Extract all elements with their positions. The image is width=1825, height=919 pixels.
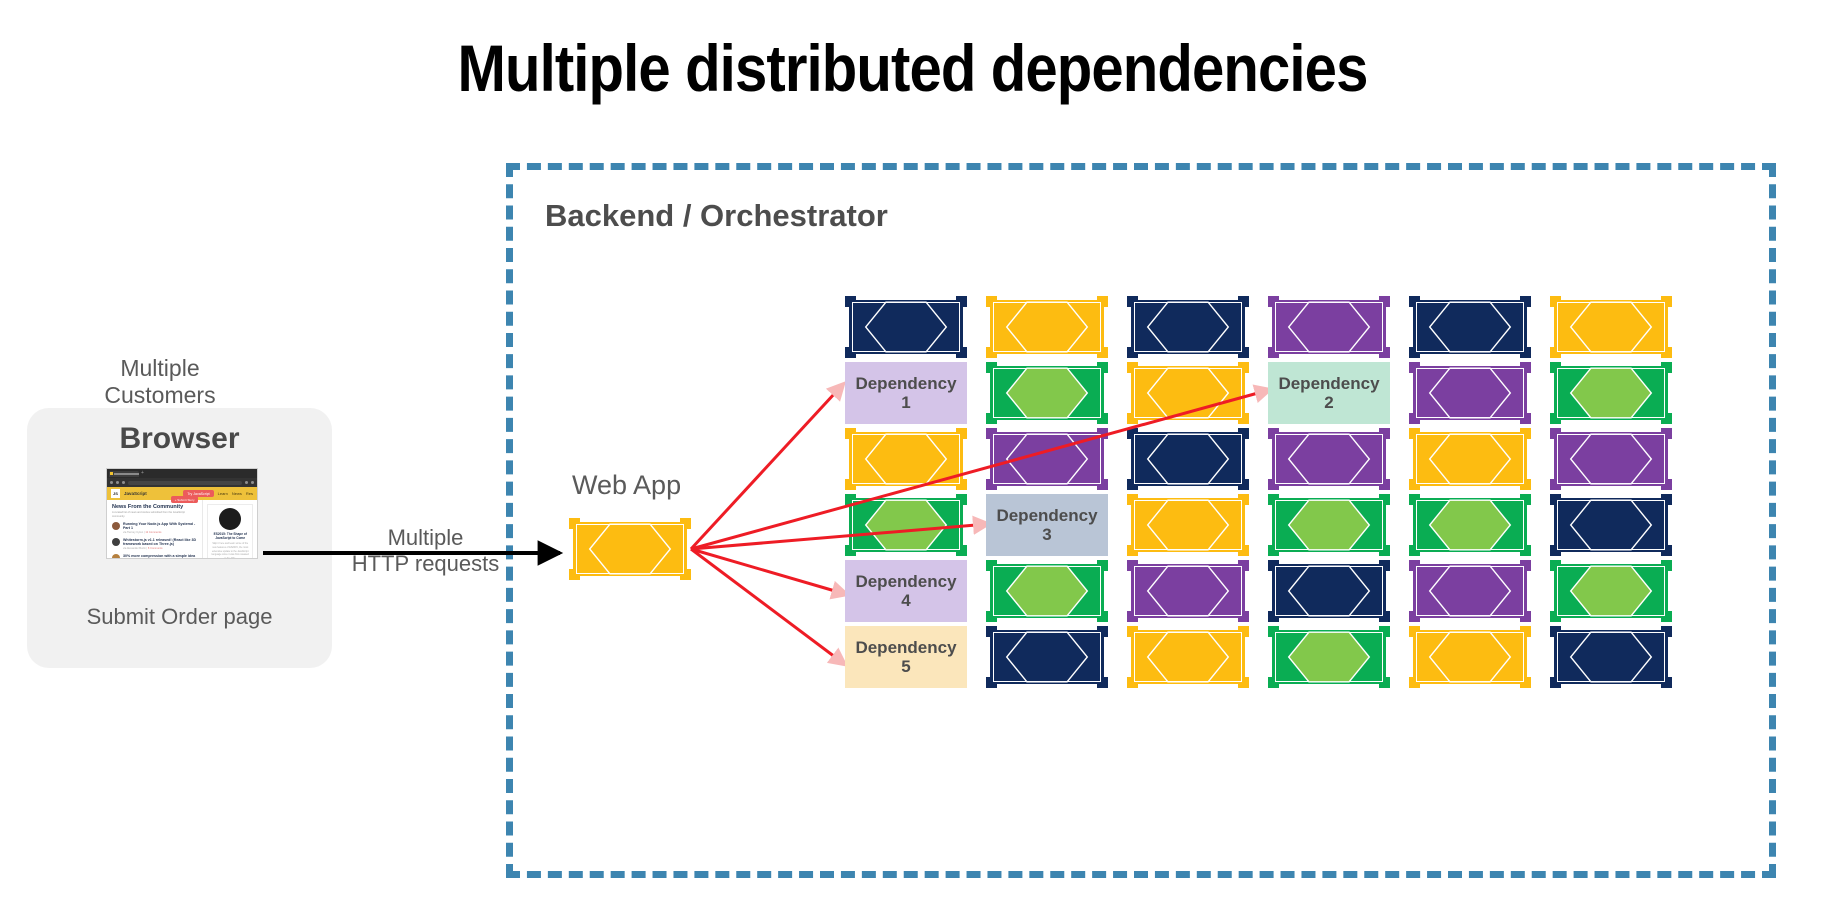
service-node[interactable] — [1127, 428, 1249, 490]
web-app-label: Web App — [572, 470, 681, 501]
hexagon-icon — [845, 296, 967, 358]
service-grid: Dependency1Dependency2Dependency3Depende… — [845, 296, 1660, 676]
node-corner-bracket — [1238, 347, 1249, 358]
dependency-label-3[interactable]: Dependency3 — [986, 494, 1108, 556]
node-corner-bracket — [845, 494, 856, 505]
node-corner-bracket — [1097, 296, 1108, 307]
node-corner-bracket — [845, 479, 856, 490]
node-corner-bracket — [1409, 611, 1420, 622]
node-corner-bracket — [1379, 677, 1390, 688]
dependency-label-line-1: Dependency — [855, 638, 956, 657]
menu-icon — [251, 481, 254, 484]
course-title: ES2015: The Shape of JavaScript to Come — [211, 532, 249, 540]
node-corner-bracket — [1550, 479, 1561, 490]
node-corner-bracket — [956, 479, 967, 490]
node-corner-bracket — [956, 494, 967, 505]
node-corner-bracket — [1550, 611, 1561, 622]
node-corner-bracket — [1520, 362, 1531, 373]
hexagon-icon — [1268, 626, 1390, 688]
node-corner-bracket — [1520, 677, 1531, 688]
node-corner-bracket — [1520, 626, 1531, 637]
service-node[interactable] — [1127, 494, 1249, 556]
node-corner-bracket — [1409, 347, 1420, 358]
dependency-label-line-1: Dependency — [996, 506, 1097, 525]
node-corner-bracket — [1238, 479, 1249, 490]
hexagon-icon — [1409, 428, 1531, 490]
site-brand: JavaScript — [124, 491, 147, 496]
customers-line-2: Customers — [60, 382, 260, 409]
node-corner-bracket — [845, 428, 856, 439]
avatar — [112, 554, 120, 559]
node-corner-bracket — [1127, 479, 1138, 490]
browser-title: Browser — [27, 422, 332, 456]
dependency-label-line-1: Dependency — [855, 572, 956, 591]
node-corner-bracket — [986, 611, 997, 622]
node-corner-bracket — [1268, 428, 1279, 439]
hexagon-icon — [1127, 296, 1249, 358]
service-node[interactable] — [1268, 428, 1390, 490]
article-title: 30% more compression with a simple idea … — [123, 554, 198, 559]
node-corner-bracket — [1268, 494, 1279, 505]
service-node[interactable] — [1268, 494, 1390, 556]
node-corner-bracket — [1379, 428, 1390, 439]
service-node[interactable] — [1550, 428, 1672, 490]
node-corner-bracket — [1238, 413, 1249, 424]
node-corner-bracket — [1661, 296, 1672, 307]
hexagon-icon — [986, 362, 1108, 424]
dependency-label-5[interactable]: Dependency5 — [845, 626, 967, 688]
node-corner-bracket — [1127, 494, 1138, 505]
news-subheadline: A curated list of news and stories submi… — [112, 511, 198, 518]
star-icon — [245, 481, 248, 484]
hexagon-icon — [1550, 362, 1672, 424]
node-corner-bracket — [1379, 611, 1390, 622]
submit-story-button: + Submit Story — [171, 496, 199, 503]
nav-link-news: News — [232, 491, 242, 496]
service-node[interactable] — [1127, 296, 1249, 358]
node-corner-bracket — [1379, 479, 1390, 490]
node-corner-bracket — [1379, 545, 1390, 556]
node-corner-bracket — [1550, 428, 1561, 439]
course-card: ES2015: The Shape of JavaScript to Come … — [207, 504, 253, 559]
node-corner-bracket — [1268, 347, 1279, 358]
javascript-logo: JS — [111, 489, 120, 498]
node-corner-bracket — [1379, 494, 1390, 505]
node-corner-bracket — [1379, 626, 1390, 637]
node-corner-bracket — [1520, 560, 1531, 571]
node-corner-bracket — [1238, 296, 1249, 307]
node-corner-bracket — [1409, 494, 1420, 505]
reload-icon — [122, 481, 125, 484]
browser-tabstrip: + — [107, 469, 257, 478]
hexagon-icon — [986, 428, 1108, 490]
node-corner-bracket — [1520, 545, 1531, 556]
node-corner-bracket — [1379, 560, 1390, 571]
node-corner-bracket — [986, 626, 997, 637]
service-node[interactable] — [986, 626, 1108, 688]
node-corner-bracket — [1661, 545, 1672, 556]
node-corner-bracket — [1097, 413, 1108, 424]
service-node[interactable] — [1268, 626, 1390, 688]
node-corner-bracket — [1097, 560, 1108, 571]
node-corner-bracket — [1268, 296, 1279, 307]
service-node[interactable] — [1268, 560, 1390, 622]
node-corner-bracket — [986, 677, 997, 688]
submit-order-page-label: Submit Order page — [27, 604, 332, 630]
article-title: Running Your Node.js App With Systemd - … — [123, 522, 198, 531]
page-title: Multiple distributed dependencies — [110, 30, 1716, 106]
hexagon-icon — [1127, 362, 1249, 424]
node-corner-bracket — [1127, 611, 1138, 622]
service-node[interactable] — [845, 428, 967, 490]
node-corner-bracket — [1409, 479, 1420, 490]
node-corner-bracket — [1238, 560, 1249, 571]
avatar — [112, 522, 120, 530]
node-corner-bracket — [1127, 677, 1138, 688]
node-corner-bracket — [1409, 413, 1420, 424]
hexagon-icon — [569, 518, 691, 580]
service-node[interactable] — [986, 560, 1108, 622]
service-node[interactable] — [1127, 560, 1249, 622]
node-corner-bracket — [986, 296, 997, 307]
node-corner-bracket — [1268, 545, 1279, 556]
hexagon-icon — [986, 626, 1108, 688]
dependency-label-4[interactable]: Dependency4 — [845, 560, 967, 622]
service-node[interactable] — [1127, 362, 1249, 424]
node-corner-bracket — [1097, 479, 1108, 490]
hexagon-icon — [1268, 494, 1390, 556]
browser-tab — [109, 471, 139, 477]
node-corner-bracket — [1238, 362, 1249, 373]
news-sidebar: ES2015: The Shape of JavaScript to Come … — [202, 500, 257, 559]
hexagon-icon — [1409, 494, 1531, 556]
list-item: Running Your Node.js App With Systemd - … — [112, 522, 198, 534]
node-corner-bracket — [1097, 428, 1108, 439]
service-node[interactable] — [1409, 494, 1531, 556]
node-corner-bracket — [1661, 626, 1672, 637]
dependency-label-line-2: 1 — [901, 393, 910, 412]
dependency-label-line-2: 4 — [901, 591, 910, 610]
node-corner-bracket — [1409, 362, 1420, 373]
node-corner-bracket — [1127, 413, 1138, 424]
node-corner-bracket — [1238, 611, 1249, 622]
node-corner-bracket — [1661, 362, 1672, 373]
hexagon-icon — [1409, 626, 1531, 688]
node-corner-bracket — [1127, 296, 1138, 307]
address-field — [128, 481, 242, 485]
node-corner-bracket — [845, 296, 856, 307]
node-corner-bracket — [956, 296, 967, 307]
node-corner-bracket — [845, 347, 856, 358]
hexagon-icon — [1268, 560, 1390, 622]
node-corner-bracket — [1520, 428, 1531, 439]
node-corner-bracket — [1550, 494, 1561, 505]
node-corner-bracket — [1409, 626, 1420, 637]
node-corner-bracket — [1550, 296, 1561, 307]
news-headline: News From the Community — [112, 504, 198, 510]
node-corner-bracket — [1409, 545, 1420, 556]
node-corner-bracket — [1661, 428, 1672, 439]
node-corner-bracket — [1661, 494, 1672, 505]
node-corner-bracket — [1661, 479, 1672, 490]
service-node[interactable] — [1550, 494, 1672, 556]
service-node[interactable] — [1268, 296, 1390, 358]
hexagon-icon — [1550, 626, 1672, 688]
hexagon-icon — [845, 428, 967, 490]
http-requests-label: Multiple HTTP requests — [338, 525, 513, 577]
hexagon-icon — [1550, 560, 1672, 622]
web-app-node[interactable] — [569, 518, 691, 580]
node-corner-bracket — [1268, 560, 1279, 571]
node-corner-bracket — [1520, 494, 1531, 505]
dependency-label-line-1: Dependency — [1278, 374, 1379, 393]
list-item: Whitestorm.js v1.1 released! (React like… — [112, 538, 198, 550]
node-corner-bracket — [986, 479, 997, 490]
service-node[interactable] — [1409, 296, 1531, 358]
article-meta: via Tierney Cyren | 12 Comments — [123, 531, 198, 534]
customers-line-1: Multiple — [60, 355, 260, 382]
hexagon-icon — [1268, 296, 1390, 358]
new-tab-icon: + — [141, 471, 144, 476]
avatar — [112, 538, 120, 546]
node-corner-bracket — [986, 413, 997, 424]
node-corner-bracket — [1127, 626, 1138, 637]
dependency-label-line-1: Dependency — [855, 374, 956, 393]
hexagon-icon — [845, 494, 967, 556]
hexagon-icon — [1409, 296, 1531, 358]
service-node[interactable] — [986, 428, 1108, 490]
service-node[interactable] — [1409, 428, 1531, 490]
node-corner-bracket — [1097, 611, 1108, 622]
node-corner-bracket — [1409, 296, 1420, 307]
browser-urlbar — [107, 478, 257, 487]
site-body: + Submit Story News From the Community A… — [107, 500, 257, 559]
node-corner-bracket — [1661, 413, 1672, 424]
node-corner-bracket — [986, 347, 997, 358]
node-corner-bracket — [1661, 560, 1672, 571]
node-corner-bracket — [1550, 677, 1561, 688]
service-node[interactable] — [1409, 362, 1531, 424]
node-corner-bracket — [680, 518, 691, 529]
service-node[interactable] — [1550, 560, 1672, 622]
http-line-2: HTTP requests — [338, 551, 513, 577]
backend-orchestrator-title: Backend / Orchestrator — [545, 198, 888, 234]
article-title: Whitestorm.js v1.1 released! (React like… — [123, 538, 198, 547]
service-node[interactable] — [1409, 626, 1531, 688]
node-corner-bracket — [1127, 560, 1138, 571]
node-corner-bracket — [845, 545, 856, 556]
hexagon-icon — [986, 560, 1108, 622]
node-corner-bracket — [680, 569, 691, 580]
node-corner-bracket — [1127, 428, 1138, 439]
dependency-label-line-2: 5 — [901, 657, 910, 676]
node-corner-bracket — [986, 428, 997, 439]
node-corner-bracket — [569, 518, 580, 529]
node-corner-bracket — [1520, 296, 1531, 307]
node-corner-bracket — [1409, 677, 1420, 688]
hexagon-icon — [1409, 560, 1531, 622]
hexagon-icon — [1550, 428, 1672, 490]
node-corner-bracket — [1661, 611, 1672, 622]
forward-icon — [116, 481, 119, 484]
node-corner-bracket — [986, 362, 997, 373]
dependency-label-line-2: 2 — [1324, 393, 1333, 412]
back-icon — [110, 481, 113, 484]
node-corner-bracket — [1238, 428, 1249, 439]
node-corner-bracket — [1097, 347, 1108, 358]
browser-screenshot-thumbnail: + JS JavaScript Try JavaScript Learn New… — [106, 468, 258, 559]
node-corner-bracket — [1550, 560, 1561, 571]
dependency-label-line-2: 3 — [1042, 525, 1051, 544]
multiple-customers-label: Multiple Customers — [60, 355, 260, 408]
favicon-icon — [110, 472, 113, 475]
node-corner-bracket — [1238, 494, 1249, 505]
browser-panel: Browser + JS JavaScript Try JavaScript L… — [27, 408, 332, 668]
node-corner-bracket — [1550, 545, 1561, 556]
node-corner-bracket — [1520, 347, 1531, 358]
node-corner-bracket — [1550, 362, 1561, 373]
service-node[interactable] — [986, 362, 1108, 424]
node-corner-bracket — [1268, 611, 1279, 622]
node-corner-bracket — [1238, 545, 1249, 556]
node-corner-bracket — [1379, 347, 1390, 358]
article-meta: via Alexander Buzin | 8 Comments — [123, 547, 198, 550]
node-corner-bracket — [956, 545, 967, 556]
hexagon-icon — [986, 296, 1108, 358]
service-node[interactable] — [1550, 296, 1672, 358]
node-corner-bracket — [1097, 362, 1108, 373]
node-corner-bracket — [1268, 479, 1279, 490]
node-corner-bracket — [1097, 626, 1108, 637]
http-line-1: Multiple — [338, 525, 513, 551]
node-corner-bracket — [1520, 413, 1531, 424]
node-corner-bracket — [1379, 296, 1390, 307]
hexagon-icon — [1127, 494, 1249, 556]
service-node[interactable] — [1550, 362, 1672, 424]
node-corner-bracket — [1268, 677, 1279, 688]
node-corner-bracket — [1550, 347, 1561, 358]
node-corner-bracket — [1268, 626, 1279, 637]
list-item: 30% more compression with a simple idea … — [112, 554, 198, 559]
service-node[interactable] — [845, 494, 967, 556]
hexagon-icon — [1127, 428, 1249, 490]
node-corner-bracket — [1550, 413, 1561, 424]
node-corner-bracket — [1409, 428, 1420, 439]
node-corner-bracket — [1661, 677, 1672, 688]
node-corner-bracket — [1238, 626, 1249, 637]
node-corner-bracket — [1097, 677, 1108, 688]
nav-link-resources: Res — [246, 491, 253, 496]
hexagon-icon — [1550, 494, 1672, 556]
dependency-label-1[interactable]: Dependency1 — [845, 362, 967, 424]
node-corner-bracket — [1238, 677, 1249, 688]
node-corner-bracket — [956, 428, 967, 439]
service-node[interactable] — [1409, 560, 1531, 622]
hexagon-icon — [1127, 560, 1249, 622]
service-node[interactable] — [845, 296, 967, 358]
node-corner-bracket — [956, 347, 967, 358]
hexagon-icon — [1268, 428, 1390, 490]
node-corner-bracket — [1520, 479, 1531, 490]
course-thumbnail — [219, 508, 241, 530]
node-corner-bracket — [1661, 347, 1672, 358]
hexagon-icon — [1409, 362, 1531, 424]
nav-link-learn: Learn — [218, 491, 228, 496]
node-corner-bracket — [1550, 626, 1561, 637]
node-corner-bracket — [1520, 611, 1531, 622]
hexagon-icon — [1550, 296, 1672, 358]
node-corner-bracket — [569, 569, 580, 580]
node-corner-bracket — [1409, 560, 1420, 571]
node-corner-bracket — [1127, 545, 1138, 556]
course-body: Skip it here and learn some of the new f… — [211, 542, 249, 559]
service-node[interactable] — [1127, 626, 1249, 688]
hexagon-icon — [1127, 626, 1249, 688]
node-corner-bracket — [1127, 362, 1138, 373]
news-feed: + Submit Story News From the Community A… — [107, 500, 202, 559]
dependency-label-2[interactable]: Dependency2 — [1268, 362, 1390, 424]
node-corner-bracket — [1127, 347, 1138, 358]
service-node[interactable] — [1550, 626, 1672, 688]
node-corner-bracket — [986, 560, 997, 571]
service-node[interactable] — [986, 296, 1108, 358]
